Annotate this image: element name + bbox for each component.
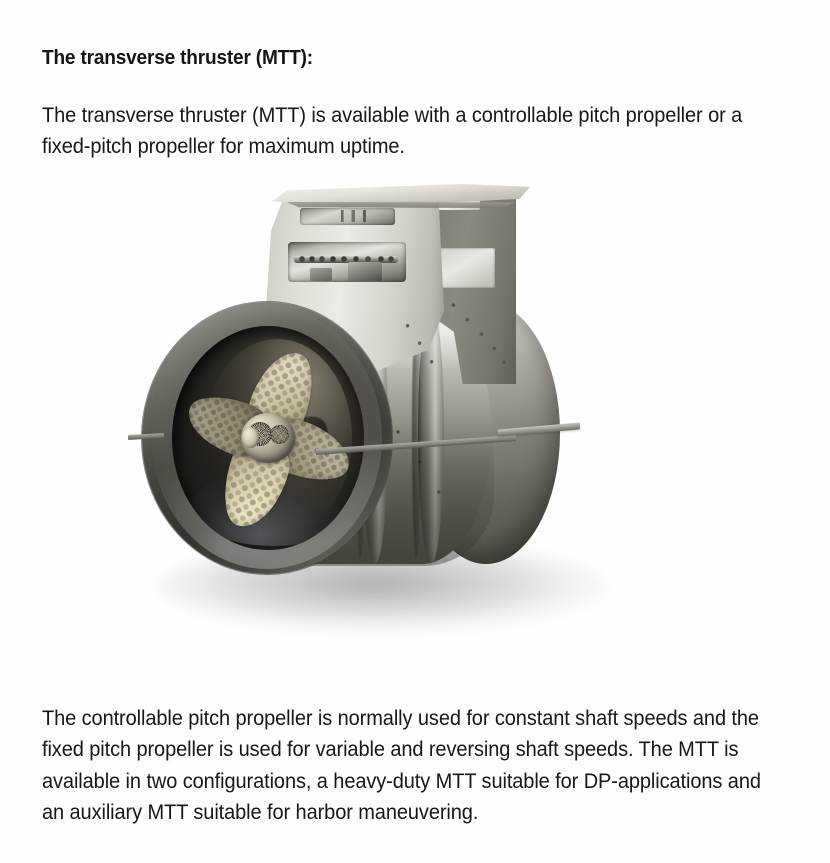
machinery-access-window <box>288 242 406 282</box>
mounting-flange-edge <box>274 202 524 208</box>
body-paragraph: The controllable pitch propeller is norm… <box>42 703 786 829</box>
blade-root-gear-icon <box>270 425 289 444</box>
product-figure <box>0 170 830 670</box>
intro-paragraph: The transverse thruster (MTT) is availab… <box>42 100 777 162</box>
gearbox-block <box>348 262 382 281</box>
thruster-illustration <box>120 170 640 660</box>
hub-cap <box>242 427 259 448</box>
page-title: The transverse thruster (MTT): <box>42 45 749 71</box>
upper-window-internals <box>334 210 374 222</box>
tunnel-interior <box>172 326 364 550</box>
controllable-pitch-propeller <box>175 345 361 531</box>
propeller-hub <box>241 413 295 463</box>
strut-bolt-row <box>448 296 507 370</box>
bearing-block <box>310 268 332 281</box>
tunnel-front-opening <box>142 302 392 574</box>
strut-bolt-row <box>402 320 442 378</box>
page-root: The transverse thruster (MTT): The trans… <box>0 0 830 863</box>
